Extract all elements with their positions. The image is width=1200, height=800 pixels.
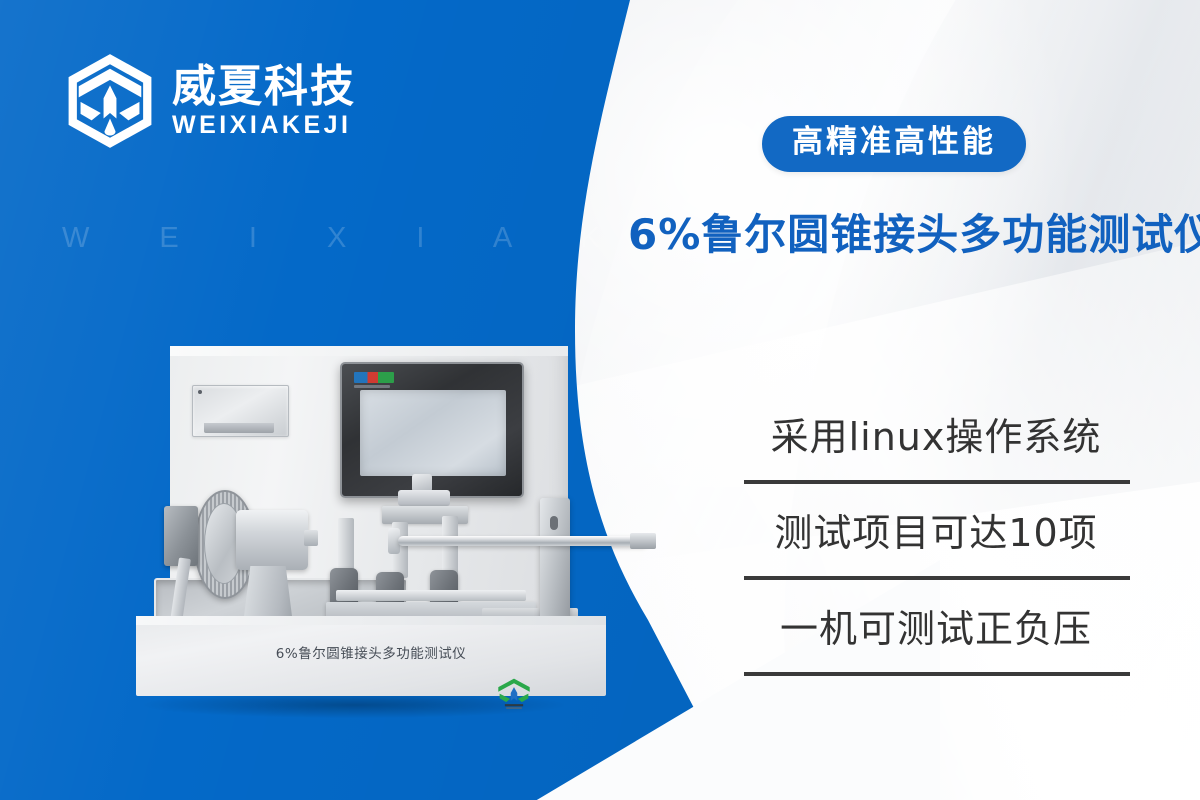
hmi-screen-surface[interactable] [360, 390, 506, 476]
machine-base-lip [136, 616, 606, 625]
fixture-rail [336, 590, 526, 601]
feature-divider [744, 576, 1130, 580]
hmi-touch-panel-icon[interactable] [340, 362, 524, 498]
machine-front-label: 6%鲁尔圆锥接头多功能测试仪 [136, 642, 606, 662]
machine-front-logo-icon [494, 676, 534, 710]
hmi-brand-mark-icon [354, 372, 394, 383]
fixture-upper-bracket [398, 490, 450, 506]
feature-label: 测试项目可达10项 [742, 500, 1130, 566]
test-shaft-tip [630, 533, 656, 549]
feature-item: 测试项目可达10项 [742, 500, 1130, 596]
feature-item: 采用linux操作系统 [742, 404, 1130, 500]
brand-watermark: W E I X I A K E J I [62, 222, 682, 255]
machine-side-plate-lip [204, 423, 274, 433]
highlight-badge: 高精准高性能 [762, 116, 1026, 172]
feature-list: 采用linux操作系统 测试项目可达10项 一机可测试正负压 [742, 404, 1130, 692]
test-shaft-icon [398, 536, 648, 546]
feature-label: 一机可测试正负压 [742, 596, 1130, 662]
rotary-cylinder [236, 510, 308, 570]
product-image: 6%鲁尔圆锥接头多功能测试仪 [130, 340, 660, 740]
l-bracket-hole [550, 516, 558, 530]
hmi-brand-subtext [354, 385, 390, 388]
fixture-post [442, 516, 458, 578]
page-title: 6%鲁尔圆锥接头多功能测试仪 [628, 212, 1200, 258]
machine-cabinet-top [170, 346, 568, 356]
feature-item: 一机可测试正负压 [742, 596, 1130, 692]
brand-logo-text: 威夏科技 WEIXIAKEJI [172, 65, 356, 138]
feature-label: 采用linux操作系统 [742, 404, 1130, 470]
feature-divider [744, 480, 1130, 484]
feature-divider [744, 672, 1130, 676]
banner-canvas: 威夏科技 WEIXIAKEJI W E I X I A K E J I 高精准高… [0, 0, 1200, 800]
hexagon-arrow-logo-icon [64, 52, 156, 150]
rotary-cylinder-cap [304, 530, 318, 546]
brand-logo: 威夏科技 WEIXIAKEJI [64, 52, 356, 150]
brand-name-cn: 威夏科技 [172, 65, 356, 109]
brand-name-en: WEIXIAKEJI [172, 113, 356, 138]
machine-side-plate-screw [198, 390, 202, 394]
